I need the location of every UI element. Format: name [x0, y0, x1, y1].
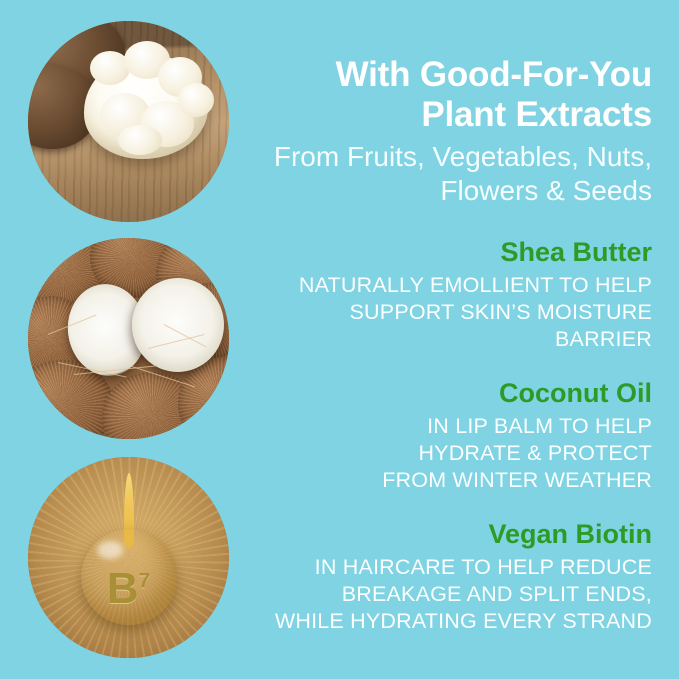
subhead-line-1: From Fruits, Vegetables,	[274, 141, 579, 172]
ingredient-benefits-poster: B7 With Good-For-You Plant Extracts From…	[0, 0, 679, 679]
page-subtitle: From Fruits, Vegetables, Nuts, Flowers &…	[260, 140, 652, 208]
body-line: IN HAIRCARE TO HELP REDUCE	[260, 554, 652, 581]
coconut-artwork	[28, 238, 229, 439]
text-column: With Good-For-You Plant Extracts From Fr…	[260, 0, 652, 635]
section-vegan-biotin: Vegan Biotin IN HAIRCARE TO HELP REDUCE …	[260, 520, 652, 635]
biotin-droplet-artwork: B7	[28, 457, 229, 658]
section-title-coconut-oil: Coconut Oil	[260, 379, 652, 409]
ingredient-image-column: B7	[0, 0, 256, 679]
section-title-vegan-biotin: Vegan Biotin	[260, 520, 652, 550]
biotin-superscript: 7	[139, 569, 151, 592]
body-line: WHILE HYDRATING EVERY STRAND	[260, 608, 652, 635]
biotin-label: B7	[81, 567, 177, 611]
body-line: FROM WINTER WEATHER	[260, 467, 652, 494]
oil-droplet-icon: B7	[81, 473, 177, 625]
headline-line-2: Plant Extracts	[421, 95, 652, 134]
section-coconut-oil: Coconut Oil IN LIP BALM TO HELP HYDRATE …	[260, 379, 652, 494]
shea-butter-lump	[118, 125, 162, 155]
section-body-coconut-oil: IN LIP BALM TO HELP HYDRATE & PROTECT FR…	[260, 413, 652, 494]
page-title: With Good-For-You Plant Extracts	[260, 0, 652, 134]
shea-butter-lump	[178, 83, 214, 117]
body-line: HYDRATE & PROTECT	[260, 440, 652, 467]
shea-butter-artwork	[28, 21, 229, 222]
coconut-oil-image	[28, 238, 229, 439]
headline-line-1: With Good-For-You	[336, 55, 652, 94]
body-line: BREAKAGE AND SPLIT ENDS,	[260, 581, 652, 608]
body-line: IN LIP BALM TO HELP	[260, 413, 652, 440]
section-body-vegan-biotin: IN HAIRCARE TO HELP REDUCE BREAKAGE AND …	[260, 554, 652, 635]
vegan-biotin-image: B7	[28, 457, 229, 658]
section-title-shea-butter: Shea Butter	[260, 238, 652, 268]
body-line: NATURALLY EMOLLIENT TO HELP	[260, 272, 652, 299]
body-line: SUPPORT SKIN’S MOISTURE BARRIER	[260, 299, 652, 353]
section-body-shea-butter: NATURALLY EMOLLIENT TO HELP SUPPORT SKIN…	[260, 272, 652, 353]
shea-butter-image	[28, 21, 229, 222]
biotin-letter: B	[107, 564, 139, 613]
section-shea-butter: Shea Butter NATURALLY EMOLLIENT TO HELP …	[260, 238, 652, 353]
